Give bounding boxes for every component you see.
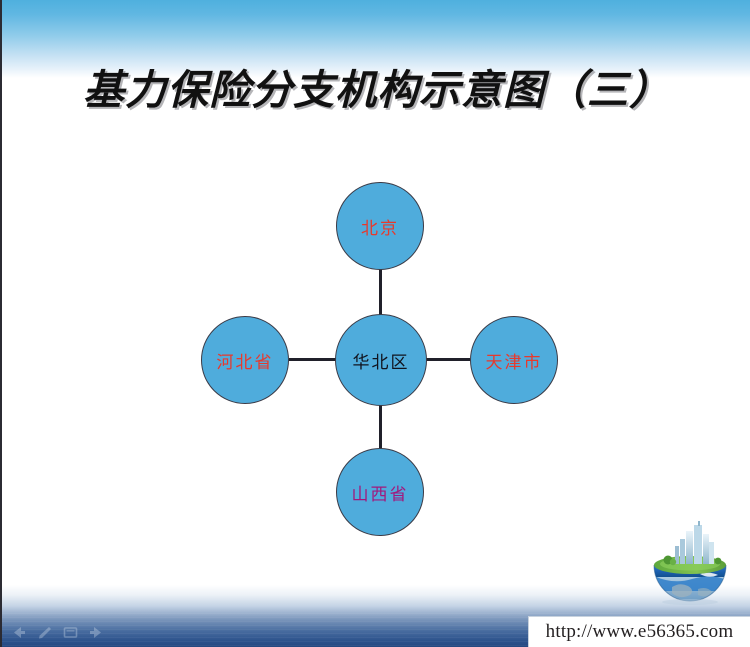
node-right-label: 天津市 bbox=[486, 348, 543, 373]
connector-center-to-left bbox=[289, 358, 337, 361]
globe-city-logo bbox=[642, 517, 738, 605]
org-chart-diagram: 北京 河北省 华北区 天津市 山西省 bbox=[2, 0, 750, 647]
node-bottom[interactable]: 山西省 bbox=[336, 448, 424, 536]
node-top-label: 北京 bbox=[361, 214, 399, 239]
previous-slide-icon[interactable] bbox=[11, 626, 26, 639]
slideshow-controls[interactable] bbox=[11, 626, 104, 639]
next-slide-icon[interactable] bbox=[89, 626, 104, 639]
node-left[interactable]: 河北省 bbox=[201, 316, 289, 404]
connector-center-to-right bbox=[424, 358, 470, 361]
node-center[interactable]: 华北区 bbox=[335, 314, 427, 406]
node-center-label: 华北区 bbox=[353, 348, 410, 373]
pen-icon[interactable] bbox=[37, 626, 52, 639]
connector-center-to-top bbox=[379, 268, 382, 316]
presentation-slide: 基力保险分支机构示意图（三） 北京 河北省 华北区 天津市 山西省 bbox=[0, 0, 750, 647]
url-watermark-bar: http://www.e56365.com bbox=[528, 616, 750, 647]
node-bottom-label: 山西省 bbox=[352, 480, 409, 505]
connector-center-to-bottom bbox=[379, 404, 382, 448]
url-watermark-text: http://www.e56365.com bbox=[546, 621, 734, 643]
node-right[interactable]: 天津市 bbox=[470, 316, 558, 404]
node-top[interactable]: 北京 bbox=[336, 182, 424, 270]
menu-icon[interactable] bbox=[63, 626, 78, 639]
node-left-label: 河北省 bbox=[217, 348, 274, 373]
